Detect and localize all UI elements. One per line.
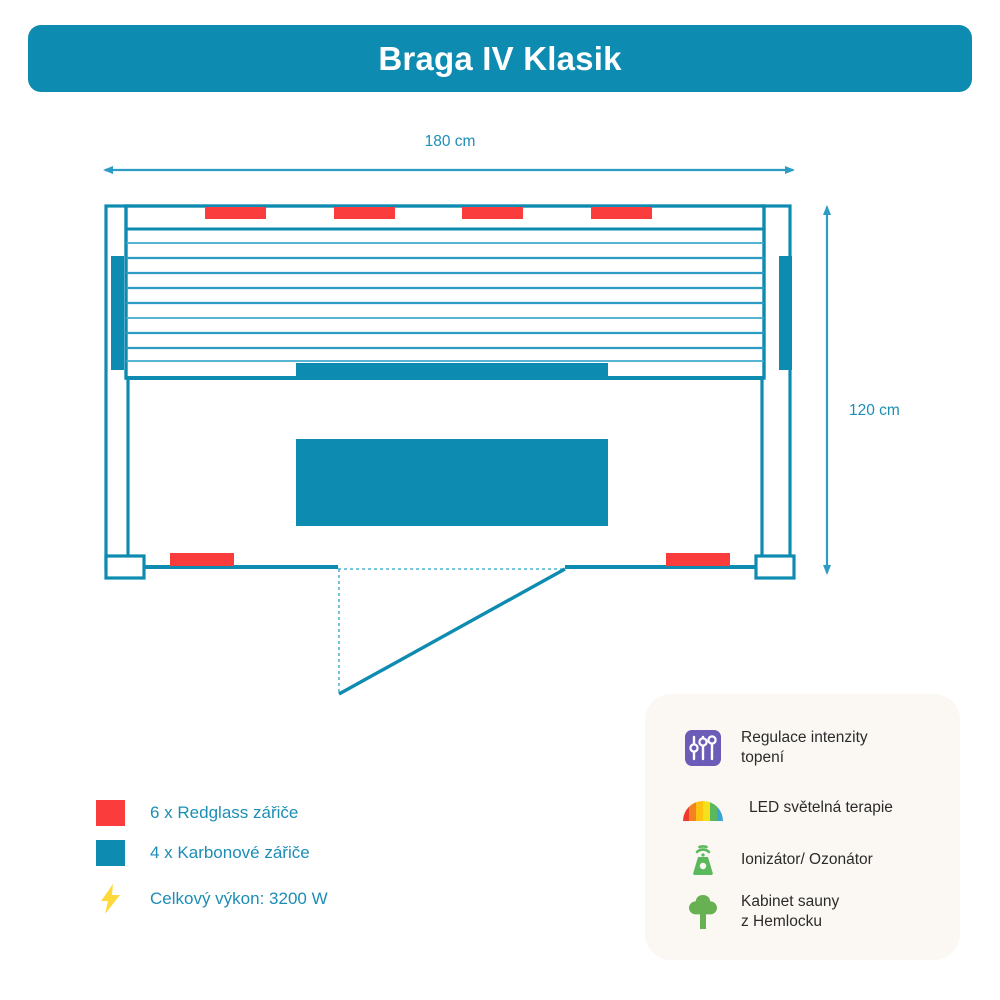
height-dimension-arrow — [823, 205, 831, 575]
feature-panel: Regulace intenzitytopení — [645, 694, 960, 960]
legend: 6 x Redglass zářiče 4 x Karbonové zářiče… — [96, 800, 476, 926]
redglass-heater — [170, 553, 234, 566]
legend-label-redglass: 6 x Redglass zářiče — [150, 803, 298, 823]
feature-label-led-therapy: LED světelná terapie — [749, 798, 893, 818]
carbon-heater-bench — [296, 363, 608, 376]
feature-item-hemlock-cabin: Kabinet saunyz Hemlocku — [681, 890, 839, 934]
rainbow-icon — [681, 786, 725, 830]
legend-item-redglass: 6 x Redglass zářiče — [96, 800, 476, 826]
feature-item-ionizer: Ionizátor/ Ozonátor — [681, 838, 873, 882]
redglass-heaters-bottom — [170, 553, 730, 566]
sliders-icon — [681, 726, 725, 770]
feature-item-led-therapy: LED světelná terapie — [681, 786, 893, 830]
width-dimension-arrow — [103, 166, 795, 174]
bench-slat-group — [126, 206, 764, 378]
ionizer-icon — [681, 838, 725, 882]
feature-label-ionizer: Ionizátor/ Ozonátor — [741, 850, 873, 870]
sauna-product-diagram: Braga IV Klasik 180 cm 120 cm — [0, 0, 1000, 1000]
lightning-bolt-icon — [96, 884, 125, 914]
feature-item-heating-regulation: Regulace intenzitytopení — [681, 726, 868, 770]
redglass-heater — [205, 207, 266, 219]
redglass-heater — [462, 207, 523, 219]
carbon-heater-right — [779, 256, 792, 370]
door-swing — [338, 569, 565, 694]
legend-item-carbon: 4 x Karbonové zářiče — [96, 840, 476, 866]
feature-label-hemlock-cabin: Kabinet saunyz Hemlocku — [741, 892, 839, 932]
teal-square-icon — [96, 840, 125, 866]
feature-label-heating-regulation: Regulace intenzitytopení — [741, 728, 868, 768]
legend-item-power: Celkový výkon: 3200 W — [96, 886, 476, 912]
legend-label-carbon: 4 x Karbonové zářiče — [150, 843, 310, 863]
red-square-icon — [96, 800, 125, 826]
redglass-heater — [334, 207, 395, 219]
carbon-heater-left — [111, 256, 124, 370]
legend-label-power: Celkový výkon: 3200 W — [150, 889, 328, 909]
tree-icon — [681, 890, 725, 934]
redglass-heater — [591, 207, 652, 219]
redglass-heater — [666, 553, 730, 566]
carbon-heater-floor — [296, 439, 608, 526]
